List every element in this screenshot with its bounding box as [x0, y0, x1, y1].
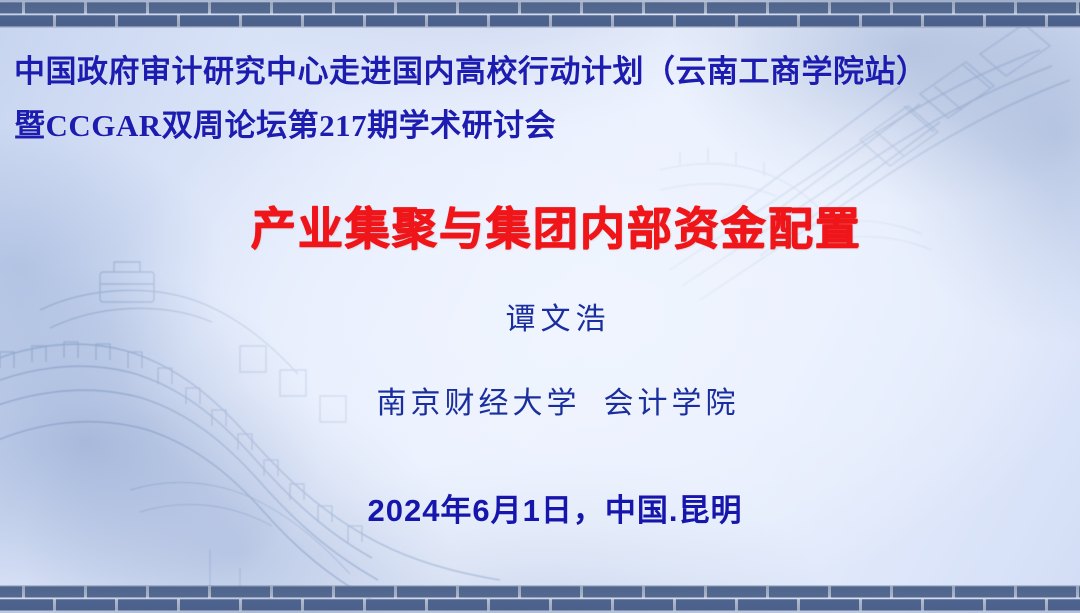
- event-header-line-2: 暨CCGAR双周论坛第217期学术研讨会: [14, 100, 556, 145]
- date-and-location: 2024年6月1日，中国.昆明: [0, 485, 1080, 530]
- author-name: 谭文浩: [0, 294, 1080, 338]
- presentation-title: 产业集聚与集团内部资金配置: [0, 192, 1080, 257]
- presentation-title-slide: 中国政府审计研究中心走进国内高校行动计划（云南工商学院站） 暨CCGAR双周论坛…: [0, 0, 1080, 613]
- slide-content: 中国政府审计研究中心走进国内高校行动计划（云南工商学院站） 暨CCGAR双周论坛…: [0, 0, 1080, 613]
- author-affiliation: 南京财经大学 会计学院: [0, 378, 1080, 422]
- event-header-line-1: 中国政府审计研究中心走进国内高校行动计划（云南工商学院站）: [14, 46, 928, 91]
